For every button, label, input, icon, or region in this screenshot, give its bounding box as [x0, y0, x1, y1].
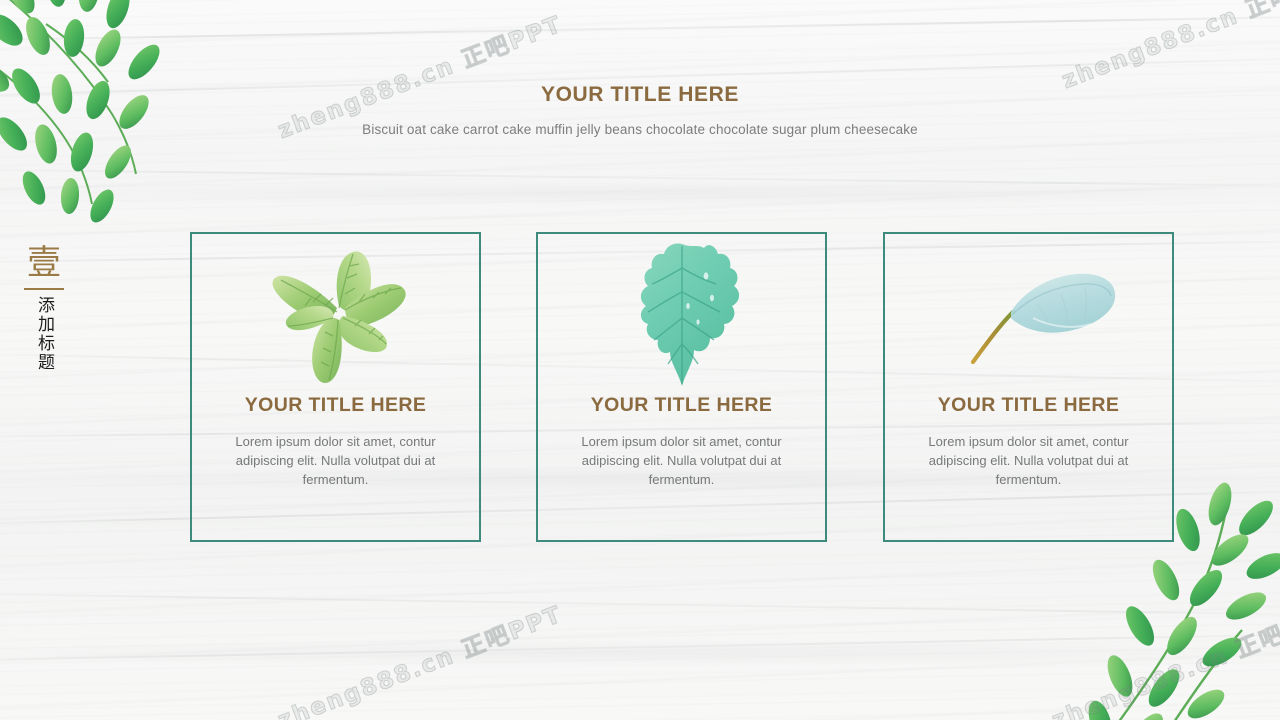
- pale-oval-leaf-icon: [885, 238, 1172, 398]
- content-card[interactable]: YOUR TITLE HERE Lorem ipsum dolor sit am…: [536, 232, 827, 542]
- card-title: YOUR TITLE HERE: [538, 394, 825, 417]
- wood-shade: [0, 180, 1280, 206]
- teal-serrated-leaf-icon: [538, 238, 825, 398]
- card-body-text: Lorem ipsum dolor sit amet, contur adipi…: [560, 432, 803, 489]
- section-label-text: 添加标题: [33, 296, 55, 372]
- content-card[interactable]: YOUR TITLE HERE Lorem ipsum dolor sit am…: [190, 232, 481, 542]
- card-body-text: Lorem ipsum dolor sit amet, contur adipi…: [907, 432, 1150, 489]
- card-title: YOUR TITLE HERE: [192, 394, 479, 417]
- card-body-text: Lorem ipsum dolor sit amet, contur adipi…: [214, 432, 457, 489]
- green-compound-leaf-icon: [192, 238, 479, 398]
- card-title: YOUR TITLE HERE: [885, 394, 1172, 417]
- section-number: 壹: [18, 243, 70, 283]
- slide-canvas: YOUR TITLE HERE Biscuit oat cake carrot …: [0, 0, 1280, 720]
- page-subtitle: Biscuit oat cake carrot cake muffin jell…: [0, 122, 1280, 137]
- wood-shade: [0, 640, 1280, 666]
- section-label: 壹 添加标题: [18, 243, 70, 372]
- section-divider: [24, 288, 64, 290]
- content-card[interactable]: YOUR TITLE HERE Lorem ipsum dolor sit am…: [883, 232, 1174, 542]
